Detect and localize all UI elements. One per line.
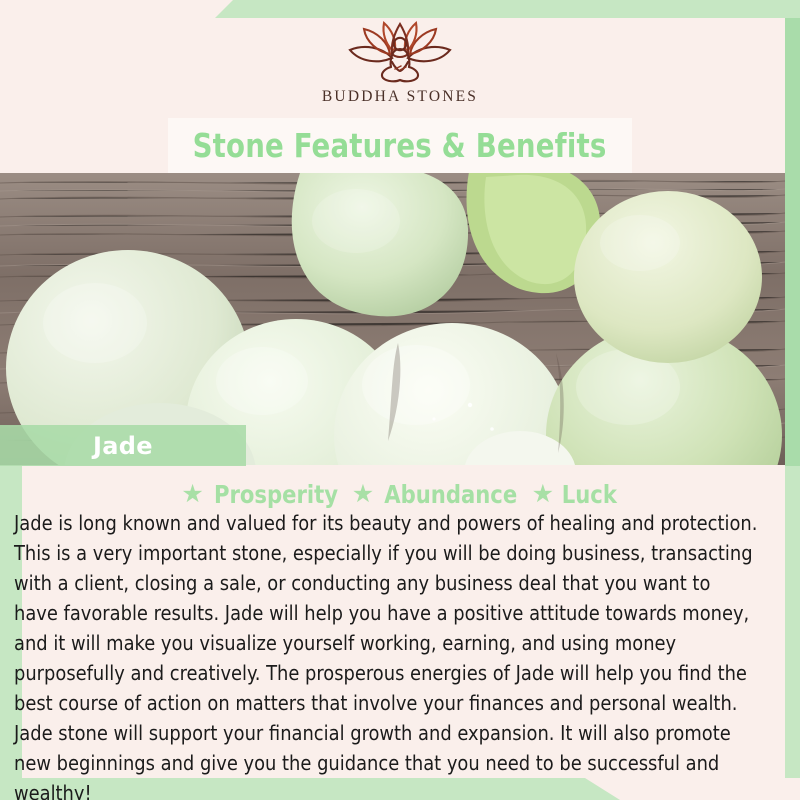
decor-band-top-right <box>215 0 800 18</box>
stone-name-bar: Jade <box>0 425 246 466</box>
lotus-meditation-icon <box>334 18 466 84</box>
brand-wordmark: BUDDHA STONES <box>322 88 478 106</box>
benefit-label: Luck <box>562 480 617 509</box>
decor-band-right-lower <box>785 466 800 778</box>
star-icon: ★ <box>352 482 374 507</box>
stone-name-label: Jade <box>93 432 153 460</box>
benefit-item-luck: ★ Luck <box>532 480 619 509</box>
page-title: Stone Features & Benefits <box>193 126 607 165</box>
benefit-item-prosperity: ★ Prosperity <box>181 480 341 509</box>
star-icon: ★ <box>181 482 203 507</box>
brand-logo-block: BUDDHA STONES <box>0 18 800 118</box>
jade-stones-photo <box>0 173 785 465</box>
benefit-label: Abundance <box>384 480 517 509</box>
star-icon: ★ <box>532 482 554 507</box>
section-title-banner: Stone Features & Benefits <box>168 118 632 173</box>
stone-info-card: BUDDHA STONES Stone Features & Benefits <box>0 0 800 800</box>
benefits-list: ★ Prosperity ★ Abundance ★ Luck <box>0 478 800 510</box>
benefit-label: Prosperity <box>214 480 338 509</box>
benefit-item-abundance: ★ Abundance <box>352 480 522 509</box>
stone-description: Jade is long known and valued for its be… <box>14 508 759 800</box>
